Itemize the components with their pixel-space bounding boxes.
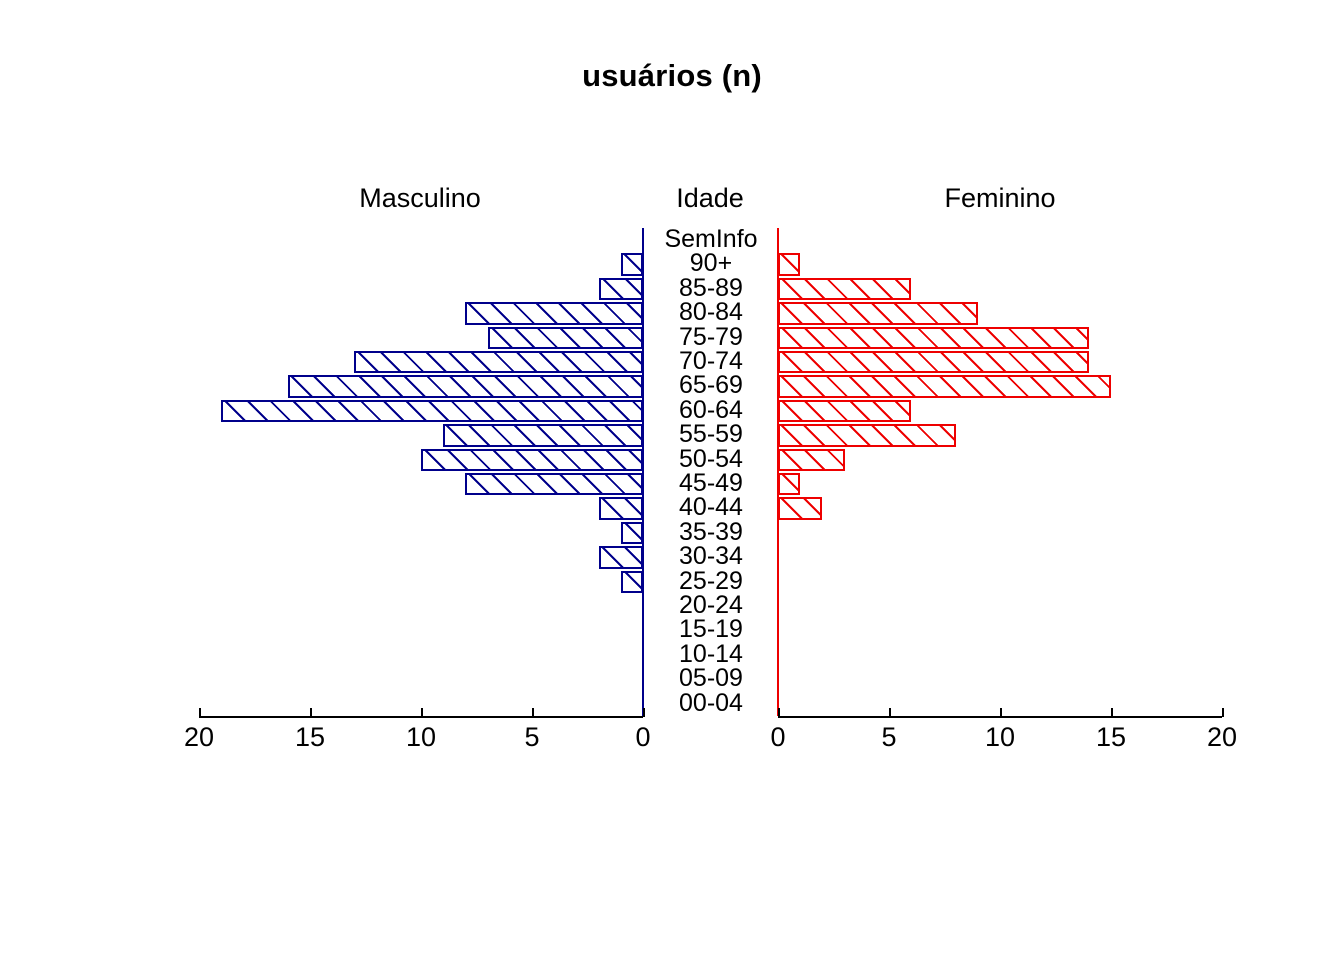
male-bar-row — [199, 521, 643, 545]
male-bar — [465, 473, 643, 495]
female-bar-row — [778, 228, 1222, 252]
male-bar — [288, 375, 643, 397]
male-axis-tick — [643, 708, 645, 717]
center-axis-header: Idade — [600, 183, 820, 214]
male-bar-row — [199, 667, 643, 691]
age-category-label: SemInfo — [645, 227, 777, 251]
male-bar-row — [199, 228, 643, 252]
female-bar-row — [778, 301, 1222, 325]
female-bar-row — [778, 374, 1222, 398]
female-bar-row — [778, 350, 1222, 374]
female-bar — [778, 278, 911, 300]
age-category-label: 40-44 — [645, 495, 777, 519]
male-bar-row — [199, 643, 643, 667]
male-bar-row — [199, 301, 643, 325]
female-bar — [778, 327, 1089, 349]
female-axis-tick — [889, 708, 891, 717]
female-bars-panel — [778, 228, 1222, 716]
age-category-label: 50-54 — [645, 447, 777, 471]
female-bar-row — [778, 594, 1222, 618]
male-bar-row — [199, 472, 643, 496]
female-axis-tick-label: 10 — [970, 722, 1030, 753]
age-category-label: 30-34 — [645, 544, 777, 568]
male-bar-row — [199, 350, 643, 374]
male-axis-tick-label: 0 — [613, 722, 673, 753]
male-axis-tick-label: 10 — [391, 722, 451, 753]
male-bar-row — [199, 496, 643, 520]
age-category-label: 25-29 — [645, 569, 777, 593]
female-bar-row — [778, 496, 1222, 520]
male-bar — [621, 253, 643, 275]
male-bar-row — [199, 570, 643, 594]
male-axis-tick-label: 5 — [502, 722, 562, 753]
age-category-label: 00-04 — [645, 691, 777, 715]
female-axis-tick — [1000, 708, 1002, 717]
female-bar-row — [778, 521, 1222, 545]
female-axis-tick-label: 0 — [748, 722, 808, 753]
age-category-label: 45-49 — [645, 471, 777, 495]
female-axis-tick — [1111, 708, 1113, 717]
male-axis-tick-label: 15 — [280, 722, 340, 753]
age-category-label: 05-09 — [645, 666, 777, 690]
female-bar-row — [778, 399, 1222, 423]
female-bar — [778, 424, 956, 446]
female-bar — [778, 497, 822, 519]
male-bar — [621, 522, 643, 544]
female-bar-row — [778, 277, 1222, 301]
female-bar — [778, 449, 845, 471]
male-bar — [465, 302, 643, 324]
female-bar — [778, 253, 800, 275]
left-panel-header: Masculino — [270, 183, 570, 214]
female-bar-row — [778, 643, 1222, 667]
male-bar — [599, 546, 643, 568]
age-category-label: 65-69 — [645, 373, 777, 397]
male-bar-row — [199, 423, 643, 447]
age-category-label: 10-14 — [645, 642, 777, 666]
age-category-label: 35-39 — [645, 520, 777, 544]
male-bar — [354, 351, 643, 373]
male-bar-row — [199, 326, 643, 350]
male-bar — [488, 327, 643, 349]
female-bar-row — [778, 570, 1222, 594]
age-category-label: 75-79 — [645, 325, 777, 349]
male-bar-row — [199, 594, 643, 618]
female-axis-tick — [1222, 708, 1224, 717]
male-bar — [599, 497, 643, 519]
population-pyramid-chart: usuários (n) Masculino Idade Feminino Se… — [0, 0, 1344, 960]
age-category-label: 55-59 — [645, 422, 777, 446]
male-bar — [421, 449, 643, 471]
age-category-label: 90+ — [645, 251, 777, 275]
female-bar-row — [778, 472, 1222, 496]
female-bar-row — [778, 423, 1222, 447]
female-bar — [778, 351, 1089, 373]
female-bar-row — [778, 448, 1222, 472]
female-axis-tick — [778, 708, 780, 717]
male-bar — [443, 424, 643, 446]
male-axis-tick — [199, 708, 201, 717]
female-bar-row — [778, 618, 1222, 642]
male-bar — [621, 571, 643, 593]
female-bar — [778, 400, 911, 422]
male-bar-row — [199, 545, 643, 569]
male-bar-row — [199, 252, 643, 276]
male-bar-row — [199, 399, 643, 423]
chart-title: usuários (n) — [0, 58, 1344, 94]
female-axis-tick-label: 5 — [859, 722, 919, 753]
male-axis-tick — [421, 708, 423, 717]
right-panel-header: Feminino — [850, 183, 1150, 214]
age-category-label: 60-64 — [645, 398, 777, 422]
age-category-label: 70-74 — [645, 349, 777, 373]
female-bar-row — [778, 252, 1222, 276]
female-axis-tick-label: 15 — [1081, 722, 1141, 753]
male-axis-tick — [310, 708, 312, 717]
male-bar — [221, 400, 643, 422]
female-bar-row — [778, 326, 1222, 350]
male-bar-row — [199, 618, 643, 642]
female-bar — [778, 302, 978, 324]
female-bar-row — [778, 545, 1222, 569]
male-bar-row — [199, 277, 643, 301]
male-bar — [599, 278, 643, 300]
male-bars-panel — [199, 228, 643, 716]
age-category-label: 20-24 — [645, 593, 777, 617]
female-bar-row — [778, 667, 1222, 691]
age-category-label: 80-84 — [645, 300, 777, 324]
male-bar-row — [199, 448, 643, 472]
female-bar — [778, 375, 1111, 397]
age-category-label: 85-89 — [645, 276, 777, 300]
male-axis-tick-label: 20 — [169, 722, 229, 753]
age-category-label: 15-19 — [645, 617, 777, 641]
male-bar-row — [199, 374, 643, 398]
female-axis-tick-label: 20 — [1192, 722, 1252, 753]
male-axis-tick — [532, 708, 534, 717]
female-bar — [778, 473, 800, 495]
